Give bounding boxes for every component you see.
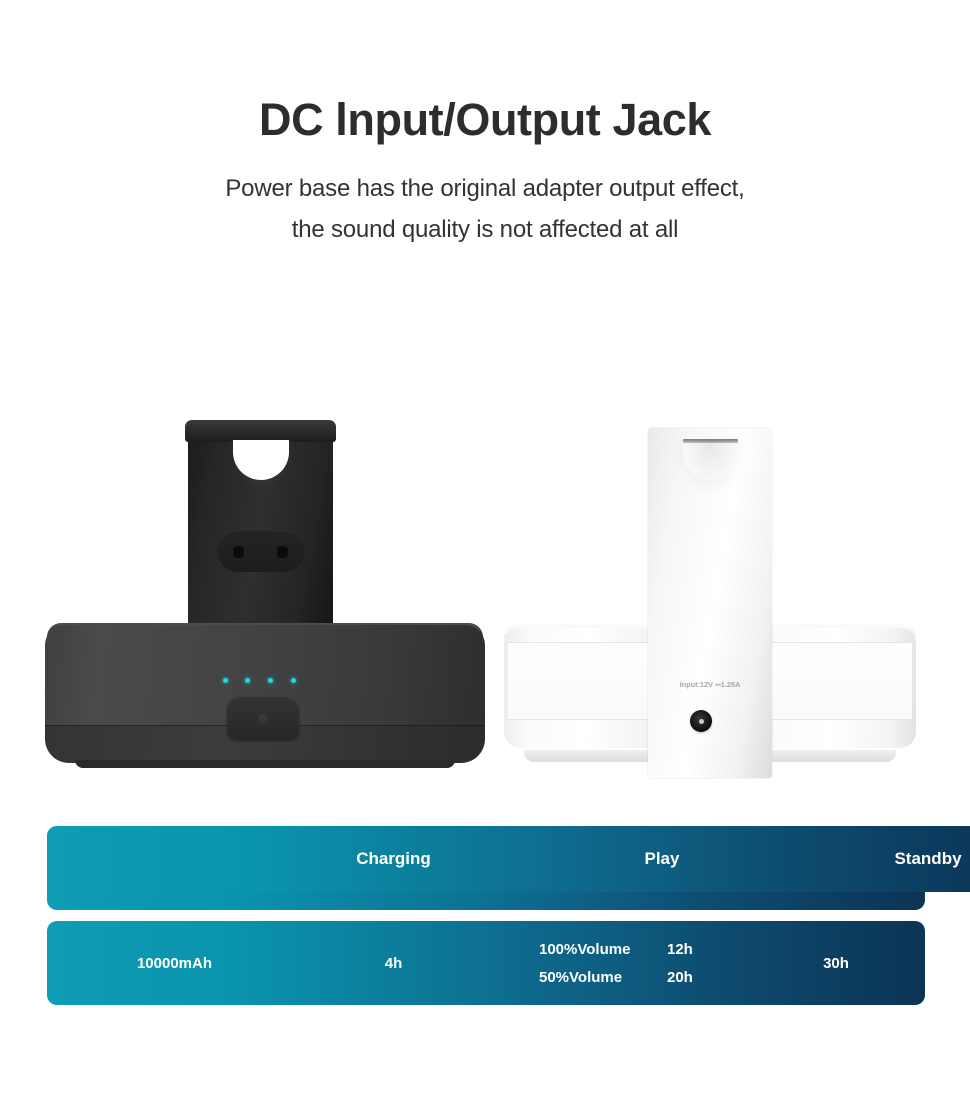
battery-spec-table: Charging Play Standby 5200mAh 2h 100%Vol…: [47, 826, 925, 1005]
black-port-right: [277, 545, 288, 558]
play-line: 50%Volume 20h: [539, 969, 747, 986]
product-images: Input:12V ⎓1.25A: [0, 410, 970, 800]
dc-input-jack: [690, 710, 712, 732]
subtitle-line-1: Power base has the original adapter outp…: [0, 169, 970, 209]
table-header-row: Charging Play Standby: [47, 826, 970, 892]
product-detail-page: DC lnput/Output Jack Power base has the …: [0, 0, 970, 1100]
led-indicator-2: [245, 678, 250, 683]
power-button: [227, 696, 299, 740]
cell-charging: 4h: [302, 921, 485, 1005]
white-power-base-rear: Input:12V ⎓1.25A: [490, 410, 930, 800]
play-line: 100%Volume 12h: [539, 941, 747, 958]
black-port-plate: [217, 530, 305, 572]
led-indicator-4: [291, 678, 296, 683]
header-charging: Charging: [302, 826, 485, 892]
white-speaker-right-band: [754, 642, 912, 720]
page-subtitle: Power base has the original adapter outp…: [0, 169, 970, 250]
header-capacity: [47, 826, 302, 892]
cell-standby: 30h: [747, 921, 925, 1005]
play-volume-label: 50%Volume: [539, 969, 667, 986]
play-hours-value: 12h: [667, 941, 717, 958]
page-title: DC lnput/Output Jack: [0, 95, 970, 145]
black-port-left: [233, 545, 244, 558]
cell-play: 100%Volume 12h 50%Volume 20h: [485, 921, 747, 1005]
black-base-foot: [75, 760, 455, 768]
table-row: 10000mAh 4h 100%Volume 12h 50%Volume 20h…: [47, 921, 925, 1005]
white-speaker-left-band: [508, 642, 666, 720]
play-volume-label: 100%Volume: [539, 941, 667, 958]
header: DC lnput/Output Jack Power base has the …: [0, 0, 970, 250]
battery-led-indicators: [223, 678, 301, 686]
black-stand-cap: [185, 420, 336, 442]
led-indicator-1: [223, 678, 228, 683]
header-play: Play: [485, 826, 839, 892]
header-standby: Standby: [839, 826, 970, 892]
subtitle-line-2: the sound quality is not affected at all: [0, 210, 970, 250]
dc-input-rating-label: Input:12V ⎓1.25A: [648, 680, 772, 690]
cell-capacity: 10000mAh: [47, 921, 302, 1005]
black-power-base-front: [45, 410, 485, 800]
play-hours-value: 20h: [667, 969, 717, 986]
led-indicator-3: [268, 678, 273, 683]
